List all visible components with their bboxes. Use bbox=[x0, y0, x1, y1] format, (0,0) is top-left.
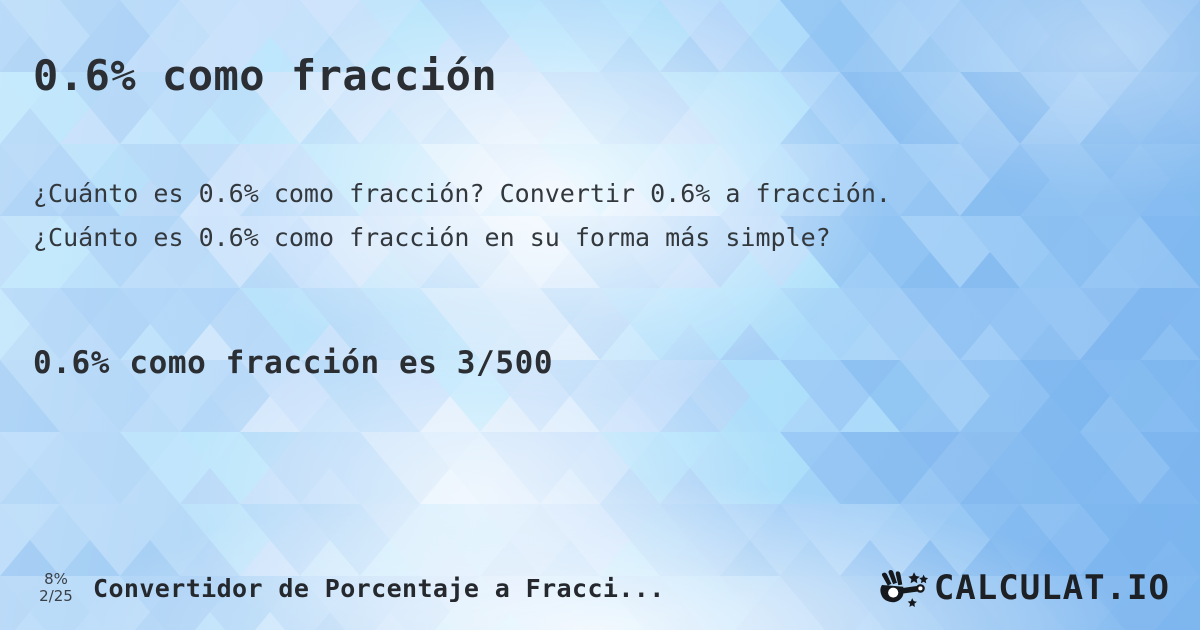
intro-line-2: ¿Cuánto es 0.6% como fracción en su form… bbox=[33, 216, 891, 260]
site-logo[interactable]: CALCULAT.IO bbox=[876, 567, 1170, 609]
tool-name: Convertidor de Porcentaje a Fracci... bbox=[93, 574, 876, 603]
conversion-example-badge: 8% 2/25 bbox=[33, 571, 79, 605]
logo-wordmark: CALCULAT.IO bbox=[934, 571, 1170, 605]
footer-bar: 8% 2/25 Convertidor de Porcentaje a Frac… bbox=[0, 546, 1200, 630]
answer-statement: 0.6% como fracción es 3/500 bbox=[33, 345, 553, 381]
page-title: 0.6% como fracción bbox=[33, 54, 497, 98]
hand-magic-wand-icon bbox=[876, 567, 932, 609]
badge-fraction: 2/25 bbox=[33, 588, 79, 605]
intro-line-1: ¿Cuánto es 0.6% como fracción? Convertir… bbox=[33, 172, 891, 216]
badge-percent: 8% bbox=[33, 571, 79, 588]
share-card: 0.6% como fracción ¿Cuánto es 0.6% como … bbox=[0, 0, 1200, 630]
intro-paragraph: ¿Cuánto es 0.6% como fracción? Convertir… bbox=[33, 172, 891, 260]
